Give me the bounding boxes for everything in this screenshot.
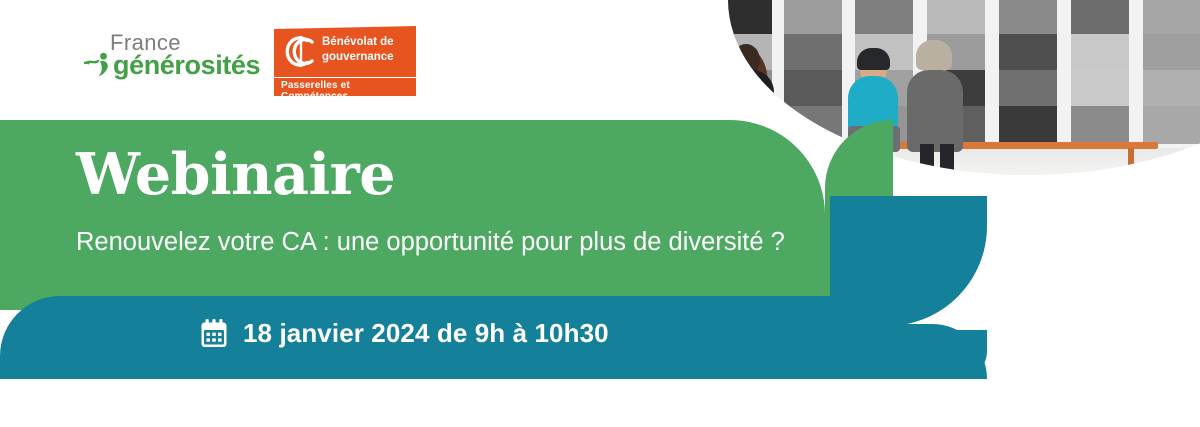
event-date-row: 18 janvier 2024 de 9h à 10h30: [200, 318, 609, 349]
benevolat-gouvernance-logo[interactable]: Bénévolat de gouvernance Passerelles et …: [274, 26, 416, 96]
logo-text-passerelles: Passerelles et Compétences: [281, 80, 416, 102]
portrait-tile: [784, 106, 842, 144]
portrait-tile: [1071, 106, 1129, 144]
france-generosites-logo[interactable]: France générosités: [84, 30, 254, 84]
portrait-tile: [1143, 0, 1200, 38]
webinar-banner: France générosités Bénévolat de gouverna…: [0, 0, 1200, 427]
person-swoosh-icon: [84, 52, 112, 78]
portrait-tile: [1143, 70, 1200, 110]
portrait-tile: [1143, 34, 1200, 74]
logo-row: France générosités Bénévolat de gouverna…: [0, 0, 690, 120]
portrait-tile: [688, 34, 704, 74]
logo-text-generosites: générosités: [113, 50, 260, 81]
portrait-tile: [784, 34, 842, 74]
portrait-tile: [927, 0, 985, 38]
portrait-tile: [1071, 34, 1129, 74]
portrait-tile: [999, 0, 1057, 38]
portrait-tile: [712, 0, 772, 38]
portrait-tile: [855, 0, 913, 38]
logo-text-benevolat: Bénévolat de gouvernance: [322, 35, 416, 65]
portrait-tile: [1071, 0, 1129, 38]
portrait-tile: [999, 70, 1057, 110]
calendar-icon: [200, 319, 228, 348]
portrait-tile: [784, 0, 842, 38]
portrait-tile: [999, 34, 1057, 74]
event-date-text: 18 janvier 2024 de 9h à 10h30: [243, 318, 609, 349]
stylised-c-icon: [282, 33, 318, 70]
portrait-tile: [784, 70, 842, 110]
portrait-tile: [1071, 70, 1129, 110]
page-title: Webinaire: [76, 146, 395, 203]
portrait-tile: [688, 70, 704, 110]
bench-leg: [1128, 148, 1134, 178]
page-subtitle: Renouvelez votre CA : une opportunité po…: [76, 228, 785, 257]
portrait-tile: [999, 106, 1057, 144]
portrait-tile: [1143, 106, 1200, 144]
